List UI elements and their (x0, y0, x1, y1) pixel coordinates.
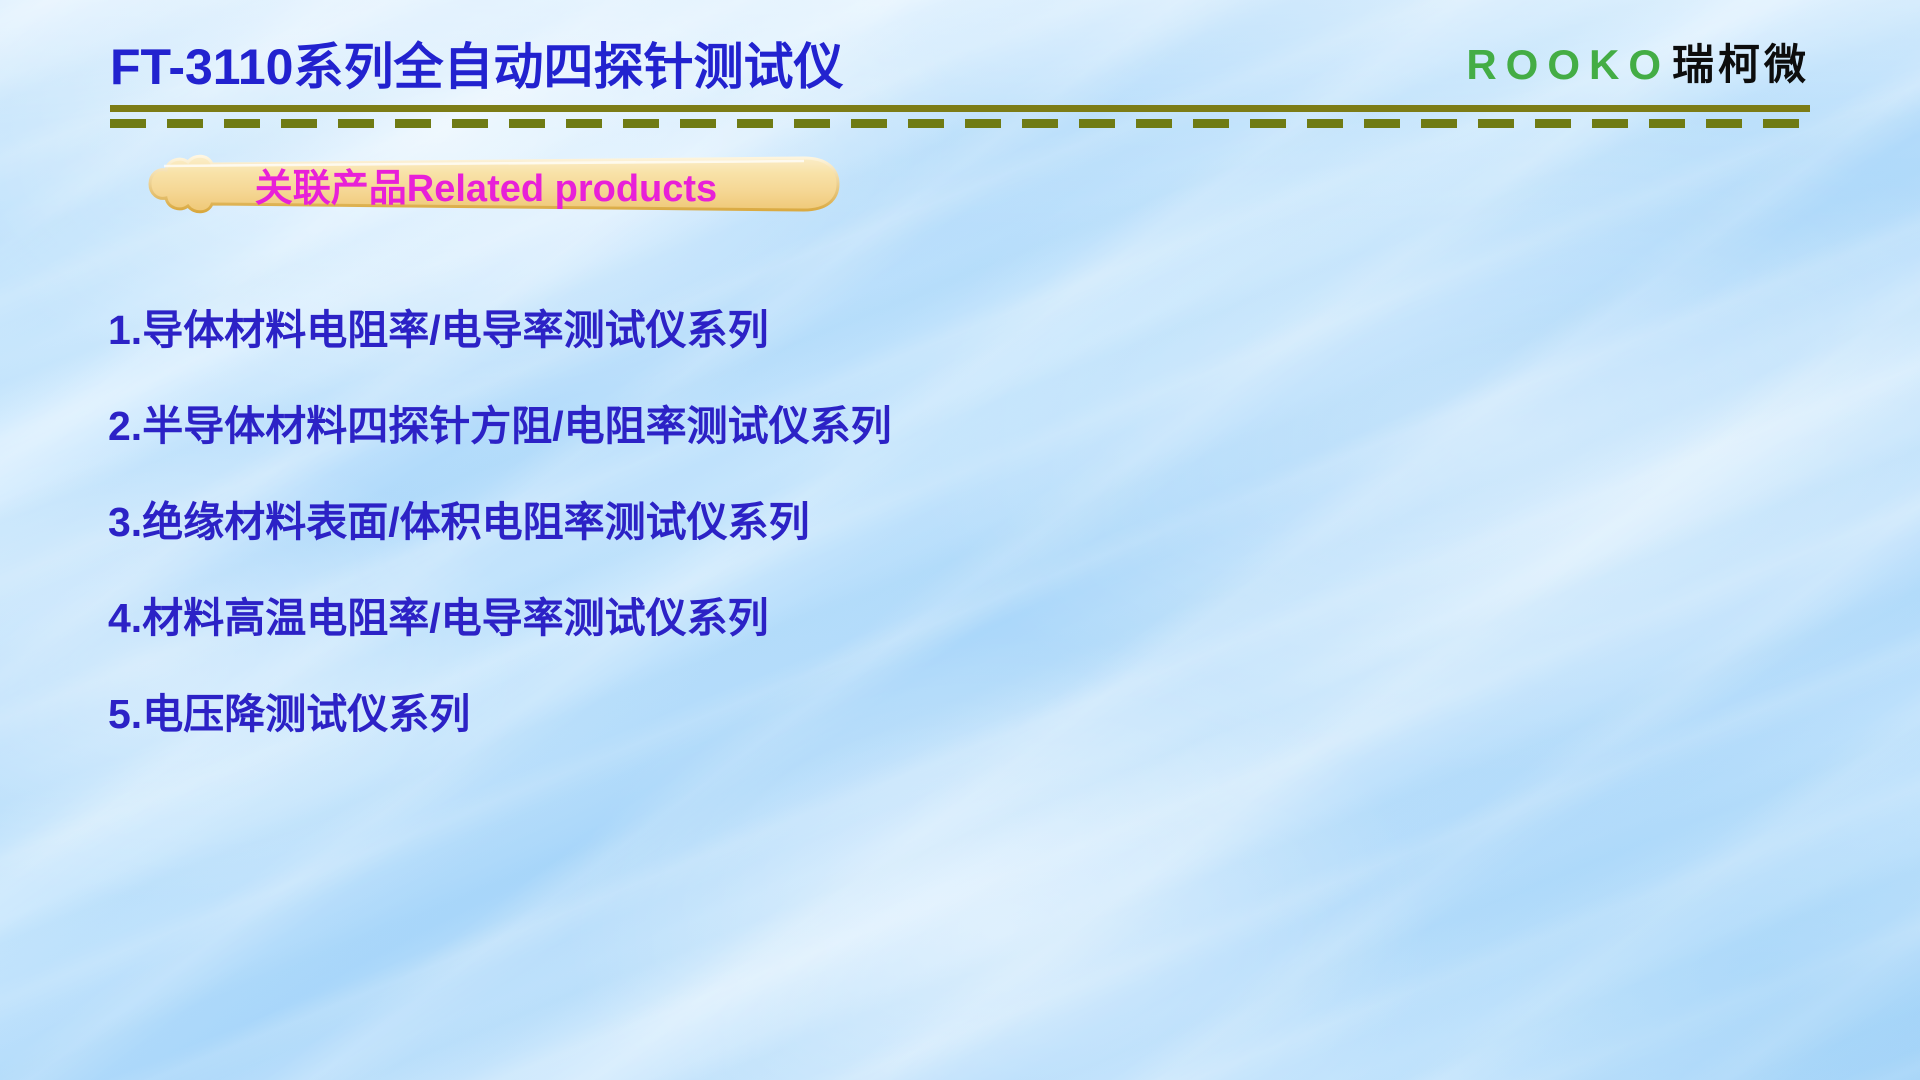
section-ribbon-label: 关联产品Related products (104, 148, 840, 220)
related-products-list: 1.导体材料电阻率/电导率测试仪系列 2.半导体材料四探针方阻/电阻率测试仪系列… (108, 278, 1608, 758)
list-item: 4.材料高温电阻率/电导率测试仪系列 (108, 566, 1608, 662)
page-title: FT-3110系列全自动四探针测试仪 (110, 42, 843, 92)
slide-root: FT-3110系列全自动四探针测试仪 ROOKO瑞柯微 (0, 0, 1920, 1080)
list-item: 2.半导体材料四探针方阻/电阻率测试仪系列 (108, 374, 1608, 470)
list-item: 1.导体材料电阻率/电导率测试仪系列 (108, 278, 1608, 374)
header-rule-solid (110, 105, 1810, 112)
list-item: 5.电压降测试仪系列 (108, 662, 1608, 758)
list-item: 3.绝缘材料表面/体积电阻率测试仪系列 (108, 470, 1608, 566)
slide-header: FT-3110系列全自动四探针测试仪 ROOKO瑞柯微 (0, 0, 1920, 150)
brand-latin-text: ROOKO (1466, 41, 1670, 88)
section-ribbon: 关联产品Related products (104, 148, 840, 220)
header-rule-dashed (110, 119, 1810, 128)
brand-chinese-text: 瑞柯微 (1672, 41, 1810, 88)
brand-logo: ROOKO瑞柯微 (1466, 44, 1810, 86)
